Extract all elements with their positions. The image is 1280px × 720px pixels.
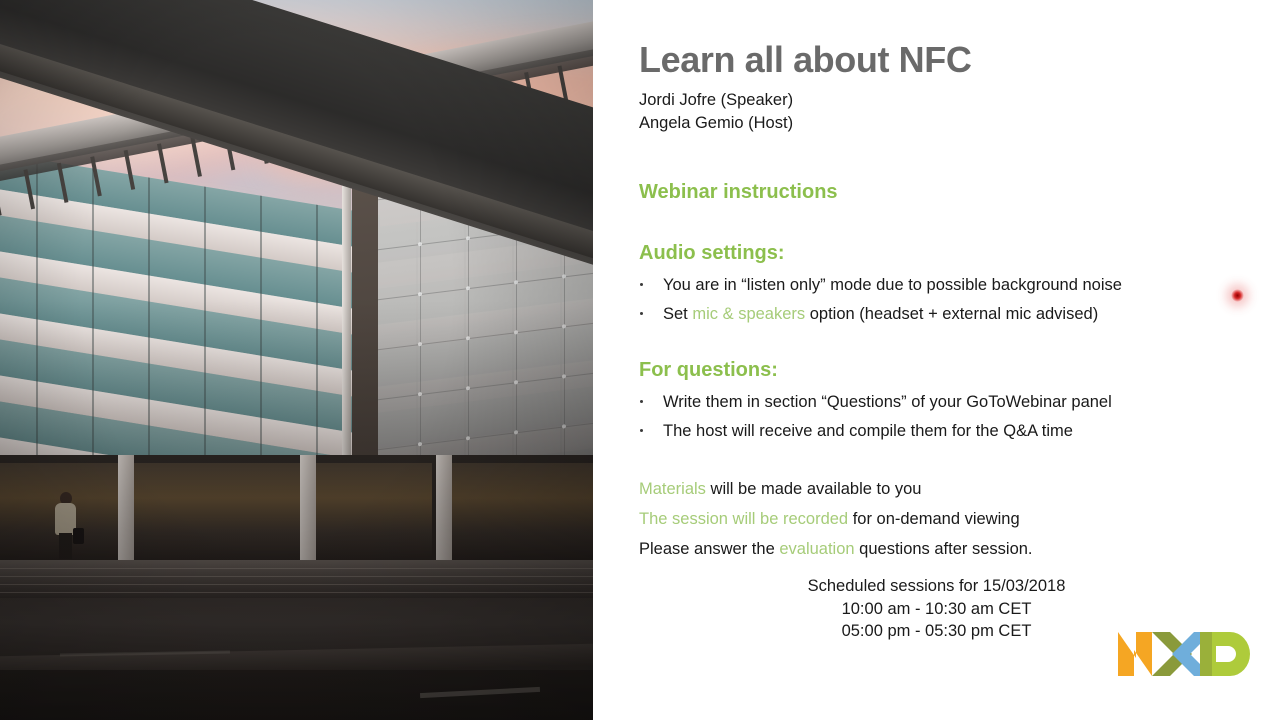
schedule-date: Scheduled sessions for 15/03/2018 xyxy=(593,575,1280,598)
closing-notes: Materials will be made available to you … xyxy=(639,474,1033,564)
questions-bullets: Write them in section “Questions” of you… xyxy=(639,388,1112,446)
closing-post: for on-demand viewing xyxy=(848,510,1020,528)
closing-highlight: Materials xyxy=(639,480,706,498)
cladding-fixing xyxy=(562,424,566,428)
building-photo xyxy=(0,0,593,720)
pedestrian xyxy=(52,492,78,562)
cladding-fixing xyxy=(514,380,518,384)
cladding-fixing xyxy=(466,286,470,290)
bullet-dot xyxy=(640,283,643,286)
list-item: The host will receive and compile them f… xyxy=(639,417,1112,446)
step-edge xyxy=(0,568,593,569)
bullet-text-pre: Set xyxy=(663,305,692,323)
bullet-text-highlight: mic & speakers xyxy=(692,305,805,323)
speaker-name: Jordi Jofre (Speaker) xyxy=(639,89,793,112)
step-edge xyxy=(0,584,593,585)
ground-floor-glazing xyxy=(312,463,432,563)
cladding-fixing xyxy=(562,374,566,378)
audio-settings-heading: Audio settings: xyxy=(639,242,785,265)
schedule-session-1: 10:00 am - 10:30 am CET xyxy=(593,598,1280,621)
ground-floor-glazing xyxy=(448,463,593,563)
cladding-fixing xyxy=(418,342,422,346)
webinar-instructions-heading: Webinar instructions xyxy=(639,181,838,204)
webinar-slide-screen: Learn all about NFC Jordi Jofre (Speaker… xyxy=(0,0,1280,720)
cladding-fixing xyxy=(418,392,422,396)
nxp-logo xyxy=(1118,628,1264,680)
bullet-dot xyxy=(640,400,643,403)
step-edge xyxy=(0,576,593,577)
bullet-dot xyxy=(640,429,643,432)
closing-line: Please answer the evaluation questions a… xyxy=(639,534,1033,564)
cladding-fixing xyxy=(418,292,422,296)
step-edge xyxy=(0,592,593,593)
ground-floor-glazing xyxy=(132,463,302,563)
audio-settings-bullets: You are in “listen only” mode due to pos… xyxy=(639,271,1122,329)
cladding-joint xyxy=(372,371,593,401)
list-item: Set mic & speakers option (headset + ext… xyxy=(639,300,1122,329)
cladding-fixing xyxy=(418,242,422,246)
nxp-letter-n xyxy=(1118,632,1152,676)
cladding-joint xyxy=(372,321,593,351)
page-title: Learn all about NFC xyxy=(639,40,971,80)
cladding-fixing xyxy=(562,324,566,328)
host-name: Angela Gemio (Host) xyxy=(639,112,793,135)
cladding-fixing xyxy=(466,336,470,340)
cladding-fixing xyxy=(562,274,566,278)
bullet-dot xyxy=(640,312,643,315)
list-item: You are in “listen only” mode due to pos… xyxy=(639,271,1122,300)
closing-post: will be made available to you xyxy=(706,480,922,498)
cladding-joint xyxy=(372,421,593,451)
closing-line: The session will be recorded for on-dema… xyxy=(639,504,1033,534)
list-item: Write them in section “Questions” of you… xyxy=(639,388,1112,417)
closing-pre: Please answer the xyxy=(639,540,779,558)
closing-line: Materials will be made available to you xyxy=(639,474,1033,504)
bullet-text-post: option (headset + external mic advised) xyxy=(805,305,1098,323)
bullet-text-pre: You are in “listen only” mode due to pos… xyxy=(663,276,1122,294)
cladding-fixing xyxy=(466,386,470,390)
bullet-text-pre: The host will receive and compile them f… xyxy=(663,422,1073,440)
closing-highlight: evaluation xyxy=(779,540,854,558)
cladding-joint xyxy=(372,271,593,301)
speaker-list: Jordi Jofre (Speaker) Angela Gemio (Host… xyxy=(639,89,793,135)
bullet-text-pre: Write them in section “Questions” of you… xyxy=(663,393,1112,411)
entrance-steps xyxy=(0,560,593,600)
cladding-fixing xyxy=(514,330,518,334)
for-questions-heading: For questions: xyxy=(639,359,778,382)
nxp-overlap xyxy=(1200,632,1212,676)
cladding-fixing xyxy=(514,430,518,434)
entrance-pillar xyxy=(436,455,452,565)
closing-highlight: The session will be recorded xyxy=(639,510,848,528)
cladding-fixing xyxy=(466,436,470,440)
cladding-fixing xyxy=(514,280,518,284)
cursor-dot xyxy=(1231,289,1244,302)
slide-content-panel: Learn all about NFC Jordi Jofre (Speaker… xyxy=(593,0,1280,720)
cladding-fixing xyxy=(418,442,422,446)
entrance-pillar xyxy=(300,455,316,565)
entrance-pillar xyxy=(118,455,134,565)
road xyxy=(0,670,593,720)
cladding-fixing xyxy=(466,236,470,240)
closing-post: questions after session. xyxy=(855,540,1033,558)
